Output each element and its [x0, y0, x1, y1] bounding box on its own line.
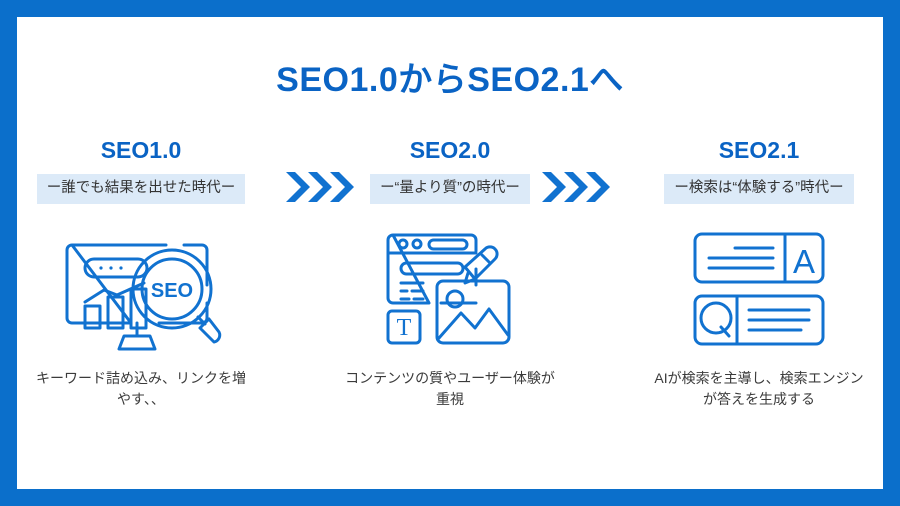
stage-column-seo2: SEO2.0 ー“量より質”の時代ー: [326, 127, 574, 447]
browser-pencil-image-icon: T: [379, 223, 521, 355]
stage-caption-seo1: キーワード詰め込み、リンクを増やす、、: [34, 368, 249, 411]
stage-caption-seo2: コンテンツの質やユーザー体験が重視: [343, 368, 558, 411]
slide-canvas: SEO1.0からSEO2.1へ SEO1.0 ー誰でも結果を出せた時代ー: [17, 17, 883, 489]
monitor-seo-magnifier-icon: SEO: [59, 223, 223, 355]
question-answer-cards-icon: A: [689, 226, 829, 352]
triple-chevron-right-icon: [286, 170, 358, 204]
seo-label: SEO: [151, 280, 193, 302]
stage-badge-seo2: ー“量より質”の時代ー: [370, 174, 530, 204]
stage-columns: SEO1.0 ー誰でも結果を出せた時代ー: [17, 127, 883, 447]
stage-badge-seo21: ー検索は“体験する”時代ー: [664, 174, 853, 204]
stage-title-seo2: SEO2.0: [410, 139, 491, 162]
stage-column-seo21: SEO2.1 ー検索は“体験する”時代ー: [635, 127, 883, 447]
triple-chevron-right-icon: [542, 170, 614, 204]
stage-title-seo21: SEO2.1: [719, 139, 800, 162]
stage-caption-seo21: AIが検索を主導し、検索エンジンが答えを生成する: [652, 368, 867, 411]
stage-icon-seo1: SEO: [56, 220, 226, 358]
answer-letter-label: A: [793, 243, 815, 280]
stage-badge-seo1: ー誰でも結果を出せた時代ー: [37, 174, 246, 204]
slide-frame: SEO1.0からSEO2.1へ SEO1.0 ー誰でも結果を出せた時代ー: [0, 0, 900, 506]
stage-arrow-1: [283, 167, 361, 207]
stage-icon-seo2: T: [365, 220, 535, 358]
page-title: SEO1.0からSEO2.1へ: [17, 52, 883, 101]
stage-arrow-2: [539, 167, 617, 207]
stage-title-seo1: SEO1.0: [101, 139, 182, 162]
stage-column-seo1: SEO1.0 ー誰でも結果を出せた時代ー: [17, 127, 265, 447]
stage-icon-seo21: A: [674, 220, 844, 358]
text-tool-label: T: [397, 315, 412, 341]
